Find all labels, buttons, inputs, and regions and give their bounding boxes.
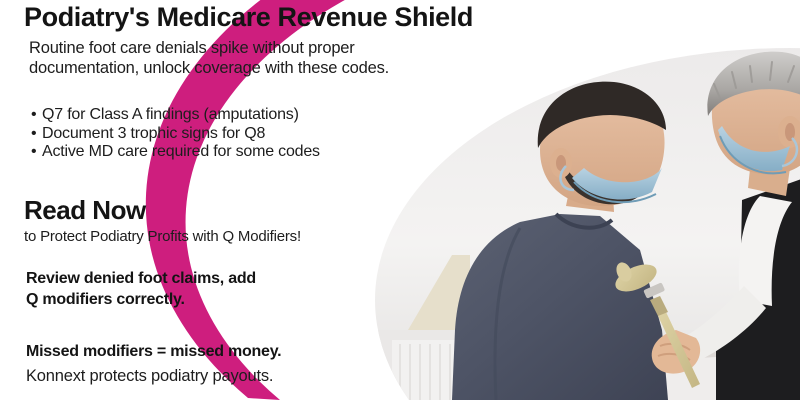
bullet-dot-icon: • — [31, 125, 36, 144]
bullet-dot-icon: • — [31, 106, 36, 125]
patient-figure — [452, 82, 668, 400]
subtitle: Routine foot care denials spike without … — [29, 38, 429, 78]
key-points-list: • Q7 for Class A findings (amputations) … — [31, 106, 431, 162]
list-item-label: Document 3 trophic signs for Q8 — [42, 125, 265, 142]
list-item-label: Q7 for Class A findings (amputations) — [42, 106, 299, 123]
pen-holder — [592, 276, 628, 337]
action-block: Review denied foot claims, add Q modifie… — [26, 268, 416, 310]
bullet-dot-icon: • — [31, 143, 36, 162]
list-item: • Active MD care required for some codes — [31, 143, 431, 162]
list-item: • Document 3 trophic signs for Q8 — [31, 125, 431, 144]
list-item-label: Active MD care required for some codes — [42, 143, 320, 160]
list-item: • Q7 for Class A findings (amputations) — [31, 106, 431, 125]
subtitle-line-2: documentation, unlock coverage with thes… — [29, 59, 389, 77]
doctor-figure — [611, 52, 800, 400]
action-block-line-2: Q modifiers correctly. — [26, 291, 185, 308]
closing-statement-brand: Konnext protects podiatry payouts. — [26, 366, 273, 386]
page-title: Podiatry's Medicare Revenue Shield — [24, 2, 473, 33]
closing-statement-strong: Missed modifiers = missed money. — [26, 342, 281, 362]
subtitle-line-1: Routine foot care denials spike without … — [29, 39, 355, 57]
text-column: Podiatry's Medicare Revenue Shield Routi… — [0, 0, 430, 400]
clinic-photo — [370, 40, 800, 400]
cta-subline: to Protect Podiatry Profits with Q Modif… — [24, 228, 301, 246]
read-now-cta[interactable]: Read Now — [24, 196, 146, 225]
action-block-line-1: Review denied foot claims, add — [26, 270, 256, 287]
promo-banner: Podiatry's Medicare Revenue Shield Routi… — [0, 0, 800, 400]
